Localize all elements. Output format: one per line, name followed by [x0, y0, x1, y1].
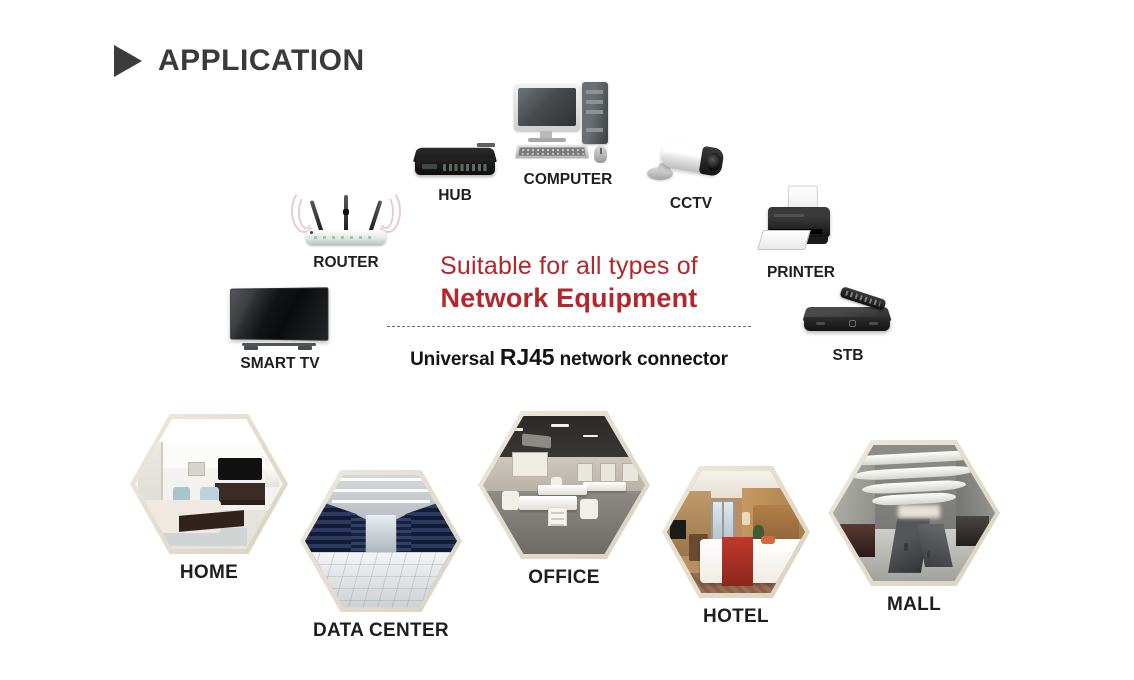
server-racks-photo	[305, 475, 457, 607]
venue-datacenter: DATA CENTER	[300, 470, 462, 642]
venue-label-hotel: HOTEL	[662, 606, 810, 628]
device-node-computer: COMPUTER	[512, 82, 624, 189]
desktop-computer-icon	[512, 82, 624, 168]
subtitle-line: Universal RJ45 network connector	[387, 344, 751, 371]
open-office-photo	[483, 416, 645, 554]
shopping-mall-photo	[833, 445, 995, 581]
page-header: APPLICATION	[114, 44, 365, 78]
inkjet-printer-icon	[758, 185, 844, 261]
tagline-line-1: Suitable for all types of	[387, 252, 751, 281]
device-node-printer: PRINTER	[753, 185, 849, 282]
security-camera-icon	[645, 134, 737, 192]
tagline-line-2: Network Equipment	[387, 281, 751, 316]
venue-mall: MALL	[828, 440, 1000, 616]
device-label-smarttv: SMART TV	[222, 355, 338, 373]
venue-hotel: HOTEL	[662, 466, 810, 628]
hotel-bedroom-photo	[667, 471, 805, 593]
infographic-canvas: APPLICATION ROUTER HUB	[0, 0, 1134, 680]
subtitle-rj45: RJ45	[500, 344, 555, 370]
venue-label-datacenter: DATA CENTER	[300, 620, 462, 642]
page-title: APPLICATION	[158, 44, 365, 78]
subtitle-post: network connector	[554, 349, 727, 370]
venue-label-office: OFFICE	[478, 567, 650, 589]
venue-office: OFFICE	[478, 411, 650, 589]
venue-label-home: HOME	[130, 562, 288, 584]
hexagon-frame	[478, 411, 650, 559]
subtitle-pre: Universal	[410, 349, 500, 370]
living-room-photo	[135, 419, 283, 549]
device-node-hub: HUB	[409, 138, 501, 205]
dashed-divider	[387, 326, 751, 327]
hexagon-frame	[828, 440, 1000, 586]
hexagon-frame	[662, 466, 810, 598]
device-node-smarttv: SMART TV	[222, 288, 338, 373]
flat-screen-tv-icon	[226, 288, 334, 352]
venue-label-mall: MALL	[828, 594, 1000, 616]
device-label-printer: PRINTER	[753, 264, 849, 282]
device-label-stb: STB	[796, 347, 900, 365]
device-label-hub: HUB	[409, 187, 501, 205]
hexagon-frame	[300, 470, 462, 612]
device-label-cctv: CCTV	[645, 195, 737, 213]
set-top-box-icon	[796, 290, 900, 344]
device-node-cctv: CCTV	[645, 134, 737, 213]
device-node-stb: STB	[796, 290, 900, 365]
network-switch-icon	[409, 138, 501, 184]
hexagon-frame	[130, 414, 288, 554]
play-triangle-icon	[114, 45, 142, 77]
device-label-computer: COMPUTER	[512, 171, 624, 189]
center-message: Suitable for all types of Network Equipm…	[387, 252, 751, 371]
venue-home: HOME	[130, 414, 288, 584]
wifi-router-icon	[292, 183, 400, 251]
